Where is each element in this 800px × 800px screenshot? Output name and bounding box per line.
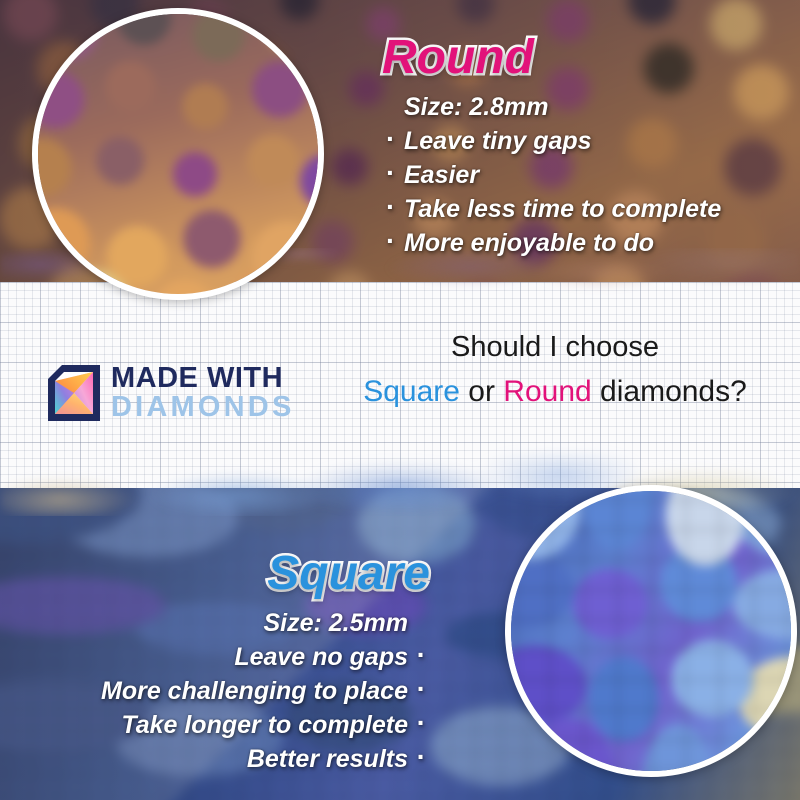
square-spec-item: More challenging to place bbox=[0, 674, 430, 708]
question-or-word: or bbox=[460, 375, 503, 408]
brand-line-1: MADE WITH bbox=[111, 364, 295, 392]
square-spec-item: Leave no gaps bbox=[0, 640, 430, 674]
round-spec-list: Size: 2.8mm Leave tiny gaps Easier Take … bbox=[382, 90, 782, 260]
square-heading: Square bbox=[0, 548, 430, 600]
question-round-word: Round bbox=[503, 375, 591, 408]
diamond-logo-icon bbox=[45, 362, 103, 424]
round-spec-item: Easier bbox=[382, 158, 782, 192]
round-spec-item: More enjoyable to do bbox=[382, 226, 782, 260]
question-tail-word: diamonds? bbox=[592, 375, 747, 408]
question-line-2: Square or Round diamonds? bbox=[330, 372, 780, 412]
brand-logo: MADE WITH DIAMONDS bbox=[45, 358, 315, 428]
brand-line-2: DIAMONDS bbox=[111, 392, 295, 422]
round-spec-item: Size: 2.8mm bbox=[382, 90, 782, 124]
square-spec-item: Size: 2.5mm bbox=[0, 606, 430, 640]
question-square-word: Square bbox=[363, 375, 460, 408]
round-zoom-photo bbox=[32, 8, 324, 300]
comparison-infographic: Round Size: 2.8mm Leave tiny gaps Easier… bbox=[0, 0, 800, 800]
square-spec-list: Size: 2.5mm Leave no gaps More challengi… bbox=[0, 606, 430, 776]
round-text-block: Round Size: 2.8mm Leave tiny gaps Easier… bbox=[382, 32, 782, 260]
round-diamonds-zoom-circle bbox=[32, 8, 324, 300]
square-spec-item: Take longer to complete bbox=[0, 708, 430, 742]
round-spec-item: Leave tiny gaps bbox=[382, 124, 782, 158]
round-spec-item: Take less time to complete bbox=[382, 192, 782, 226]
square-text-block: Square Size: 2.5mm Leave no gaps More ch… bbox=[0, 548, 430, 776]
square-zoom-photo bbox=[505, 485, 797, 777]
square-spec-item: Better results bbox=[0, 742, 430, 776]
question-block: Should I choose Square or Round diamonds… bbox=[330, 328, 780, 412]
question-line-1: Should I choose bbox=[330, 328, 780, 366]
brand-wordmark: MADE WITH DIAMONDS bbox=[111, 364, 295, 422]
round-heading: Round bbox=[382, 32, 782, 84]
square-diamonds-zoom-circle bbox=[505, 485, 797, 777]
